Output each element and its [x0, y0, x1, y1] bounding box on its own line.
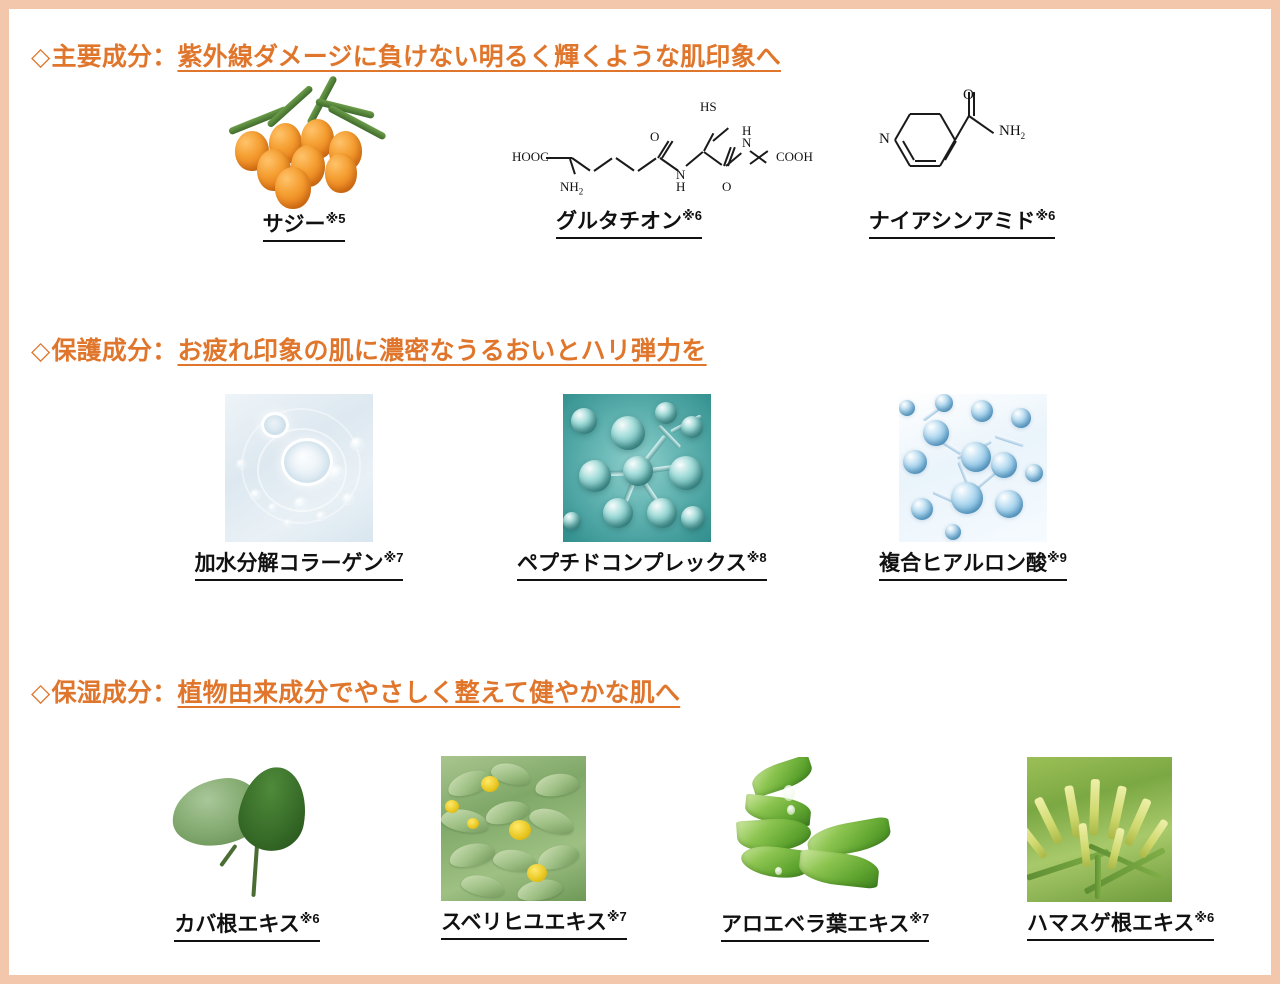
poster-canvas: ◇ 主要成分： 紫外線ダメージに負けない明るく輝くような肌印象へ サジー※5 [9, 9, 1271, 975]
caption-label: 加水分解コラーゲン [195, 552, 384, 575]
caption-hydrolyzed-collagen: 加水分解コラーゲン※7 [195, 550, 404, 581]
chem-label-nh2: NH2 [560, 179, 583, 197]
caption-label: 複合ヒアルロン酸 [879, 552, 1047, 575]
chem-label-o2: O [722, 179, 731, 195]
caption-glutathione: グルタチオン※6 [556, 208, 702, 239]
section-3-heading: ◇ 保湿成分： 植物由来成分でやさしく整えて健やかな肌へ [9, 673, 1271, 709]
chem-label-o1: O [650, 129, 659, 145]
water-droplet-photo-image [225, 394, 373, 542]
caption-label: スベリヒユエキス [441, 911, 607, 934]
caption-kava-root: カバ根エキス※6 [174, 911, 319, 942]
chem-label-h2: H [742, 123, 751, 139]
item-hydrolyzed-collagen: 加水分解コラーゲン※7 [179, 394, 419, 581]
chem-label-ring-n: N [879, 131, 890, 148]
caption-label: ペプチドコンプレックス [517, 552, 747, 575]
item-glutathione: HOOC NH2 HS O N H O N H COOH グルタチオン※6 [504, 95, 754, 239]
caption-mark: ※7 [909, 911, 929, 926]
blue-molecule-photo-image [899, 394, 1047, 542]
caption-mark: ※7 [384, 550, 404, 565]
section-1-heading: ◇ 主要成分： 紫外線ダメージに負けない明るく輝くような肌印象へ [9, 37, 1271, 73]
chem-label-amide-nh2: NH2 [999, 123, 1025, 141]
item-aloe-vera: アロエベラ葉エキス※7 [721, 757, 901, 942]
chem-label-cooh: COOH [776, 149, 813, 165]
caption-label: ナイアシンアミド [869, 210, 1036, 233]
diamond-icon: ◇ [31, 336, 50, 366]
section-1-heading-sub: 紫外線ダメージに負けない明るく輝くような肌印象へ [177, 37, 781, 73]
niacinamide-structure-image: N O NH2 [857, 95, 1067, 200]
section-1-heading-lead: 主要成分： [51, 37, 177, 73]
diamond-icon: ◇ [31, 42, 50, 72]
caption-aloe-vera: アロエベラ葉エキス※7 [721, 911, 929, 942]
section-moisturizing-ingredients: ◇ 保湿成分： 植物由来成分でやさしく整えて健やかな肌へ [9, 673, 1271, 709]
poster-frame: ◇ 主要成分： 紫外線ダメージに負けない明るく輝くような肌印象へ サジー※5 [0, 0, 1280, 984]
diamond-icon: ◇ [31, 678, 50, 708]
item-niacinamide: N O NH2 ナイアシンアミド※6 [857, 95, 1067, 239]
section-3-heading-lead: 保湿成分： [51, 673, 177, 709]
section-3-heading-sub: 植物由来成分でやさしく整えて健やかな肌へ [177, 673, 680, 709]
aloe-vera-photo-image [721, 757, 901, 903]
caption-peptide-complex: ペプチドコンプレックス※8 [517, 550, 767, 581]
caption-mark: ※7 [607, 909, 627, 924]
caption-purslane: スベリヒユエキス※7 [441, 909, 627, 940]
caption-label: カバ根エキス [174, 913, 299, 936]
chem-label-h1: H [676, 179, 685, 195]
caption-mark: ※6 [1194, 910, 1214, 925]
caption-label: ハマスゲ根エキス [1027, 912, 1194, 935]
caption-niacinamide: ナイアシンアミド※6 [869, 208, 1056, 239]
section-main-ingredients: ◇ 主要成分： 紫外線ダメージに負けない明るく輝くような肌印象へ [9, 37, 1271, 73]
section-2-heading: ◇ 保護成分： お疲れ印象の肌に濃密なうるおいとハリ弾力を [9, 331, 1271, 367]
chem-label-carbonyl-o: O [963, 87, 974, 104]
chem-label-hs: HS [700, 99, 717, 115]
item-peptide-complex: ペプチドコンプレックス※8 [517, 394, 757, 581]
caption-label: アロエベラ葉エキス [721, 913, 909, 936]
sea-buckthorn-berries-image [217, 93, 392, 203]
section-2-heading-sub: お疲れ印象の肌に濃密なうるおいとハリ弾力を [177, 331, 706, 367]
item-nutsedge-root: ハマスゲ根エキス※6 [1027, 757, 1172, 941]
item-hyaluronic-acid: 複合ヒアルロン酸※9 [853, 394, 1093, 581]
item-kava-root: カバ根エキス※6 [157, 753, 337, 942]
caption-mark: ※9 [1047, 550, 1067, 565]
item-sea-buckthorn: サジー※5 [209, 93, 399, 242]
glutathione-structure-image: HOOC NH2 HS O N H O N H COOH [504, 95, 754, 200]
caption-mark: ※6 [300, 911, 320, 926]
caption-sea-buckthorn: サジー※5 [263, 211, 346, 242]
caption-mark: ※6 [1035, 208, 1055, 223]
caption-nutsedge-root: ハマスゲ根エキス※6 [1027, 910, 1214, 941]
caption-hyaluronic-acid: 複合ヒアルロン酸※9 [879, 550, 1067, 581]
section-2-heading-lead: 保護成分： [51, 331, 177, 367]
chem-label-hooc: HOOC [512, 149, 549, 165]
caption-mark: ※6 [682, 208, 702, 223]
kava-leaves-photo-image [158, 753, 336, 903]
caption-label: グルタチオン [556, 210, 682, 233]
caption-label: サジー [263, 213, 326, 236]
teal-molecule-photo-image [563, 394, 711, 542]
caption-mark: ※8 [747, 550, 767, 565]
nutsedge-photo-image [1027, 757, 1172, 902]
caption-mark: ※5 [326, 211, 346, 226]
item-purslane: スベリヒユエキス※7 [441, 756, 586, 940]
purslane-photo-image [441, 756, 586, 901]
section-protect-ingredients: ◇ 保護成分： お疲れ印象の肌に濃密なうるおいとハリ弾力を [9, 331, 1271, 367]
